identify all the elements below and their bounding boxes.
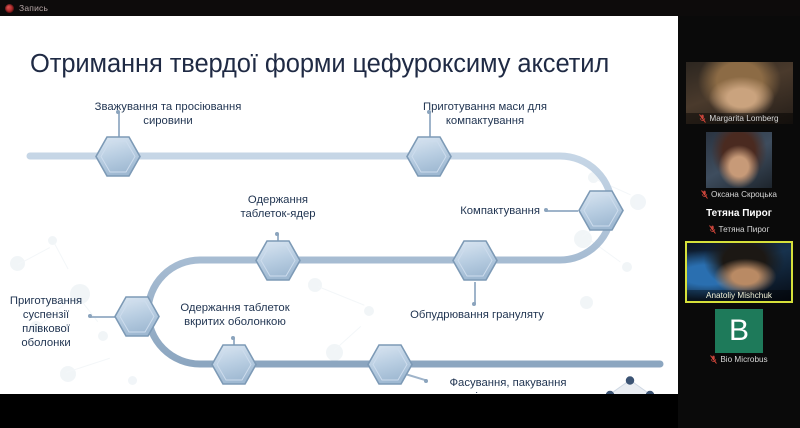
participant-rail: Margarita Lomberg Оксана Скроцька Тетяна… — [678, 16, 800, 428]
process-node-7[interactable] — [211, 344, 257, 385]
step-label-2: Приготування маси для компактування — [385, 100, 585, 128]
mic-muted-icon — [699, 114, 706, 123]
leader-dot-step7 — [231, 336, 235, 340]
participant-name-0: Margarita Lomberg — [709, 114, 778, 123]
process-node-5[interactable] — [255, 240, 301, 281]
mic-muted-icon — [709, 225, 716, 234]
recording-label: Запись — [19, 3, 48, 13]
participant-tile-0[interactable]: Margarita Lomberg — [678, 62, 800, 124]
active-speaker-header: Тетяна Пирог — [678, 202, 800, 223]
participant-name-1: Оксана Скроцька — [711, 190, 777, 199]
participant-tile-1[interactable]: Оксана Скроцька — [678, 132, 800, 202]
mic-muted-icon — [701, 190, 708, 199]
process-node-4[interactable] — [452, 240, 498, 281]
presentation-slide: Отримання твердої форми цефуроксиму аксе… — [0, 16, 678, 394]
participant-video-1 — [706, 132, 772, 188]
participant-name-2: Тетяна Пирог — [719, 225, 770, 234]
screen-share-area[interactable]: Отримання твердої форми цефуроксиму аксе… — [0, 16, 678, 410]
participant-name-4: Bio Microbus — [720, 355, 767, 364]
process-node-3[interactable] — [578, 190, 624, 231]
participant-tile-3[interactable]: Anatoliy Mishchuk — [678, 241, 800, 303]
participant-name-row-3: Anatoliy Mishchuk — [687, 290, 791, 301]
participant-avatar-4: B — [715, 309, 763, 353]
leader-dot-step4 — [472, 302, 476, 306]
record-dot-icon — [5, 4, 14, 13]
avatar-initial: B — [729, 314, 749, 348]
step-label-7: Одержання таблеток вкритих оболонкою — [152, 301, 318, 329]
share-letterbox — [0, 394, 678, 410]
participant-name-3: Anatoliy Mishchuk — [706, 291, 772, 300]
active-speaker-frame: Anatoliy Mishchuk — [685, 241, 793, 303]
participant-name-row-2: Тетяна Пирог — [678, 223, 800, 237]
step-label-1: Зважування та просіювання сировини — [58, 100, 278, 128]
zoom-meeting-window: Запись — [0, 0, 800, 428]
step-label-6: Приготування суспензії плівкової оболонк… — [0, 294, 92, 350]
leader-line-step3 — [546, 210, 578, 212]
leader-dot-step3 — [544, 208, 548, 212]
participant-name-row-0: Margarita Lomberg — [686, 113, 793, 124]
step-label-4: Обпудрювання грануляту — [382, 308, 572, 322]
participant-name-row-4: Bio Microbus — [678, 353, 800, 367]
mic-muted-icon — [710, 355, 717, 364]
leader-dot-step5 — [275, 232, 279, 236]
process-node-1[interactable] — [95, 136, 141, 177]
process-node-8[interactable] — [367, 344, 413, 385]
leader-line-step4 — [474, 282, 476, 304]
step-label-3: Компактування — [390, 204, 540, 218]
process-node-2[interactable] — [406, 136, 452, 177]
participant-name-row-1: Оксана Скроцька — [678, 188, 800, 202]
participant-tile-4[interactable]: B Bio Microbus — [678, 309, 800, 367]
participant-tile-2[interactable]: Тетяна Пирог — [678, 223, 800, 237]
recording-bar: Запись — [0, 0, 800, 16]
step-label-5: Одержання таблеток-ядер — [208, 193, 348, 221]
